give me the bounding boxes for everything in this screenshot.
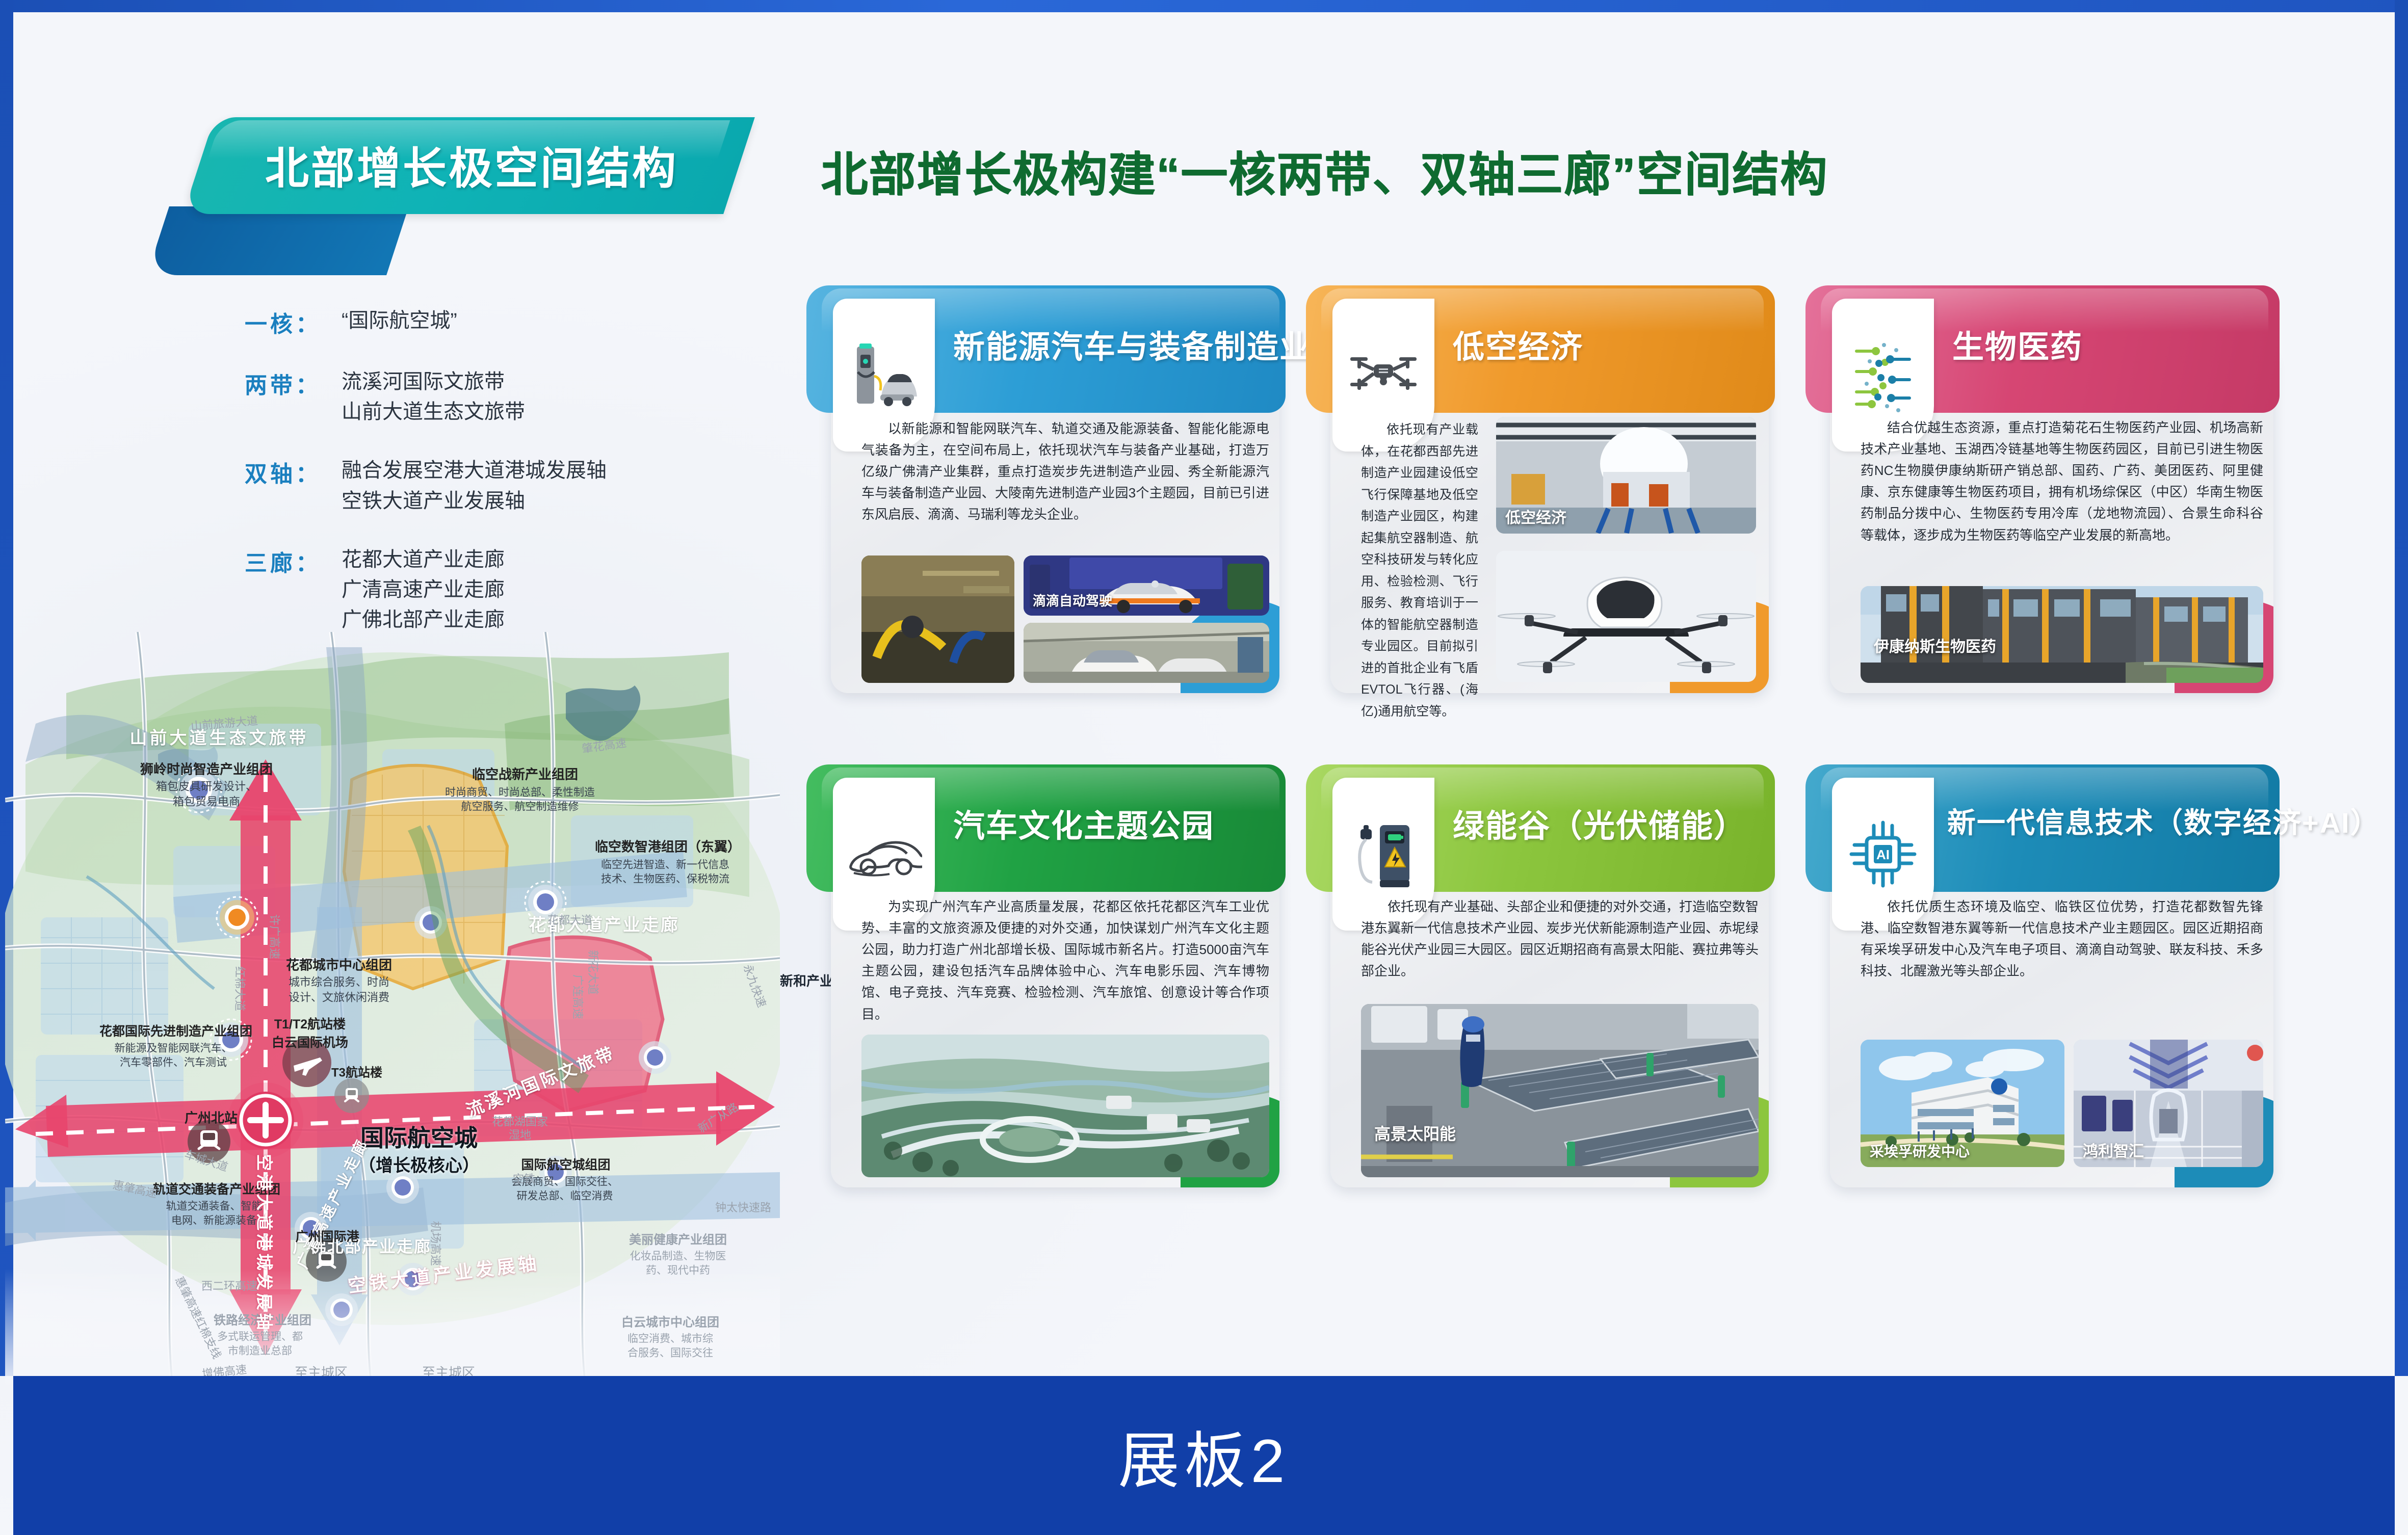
evtol-illustration: [1496, 551, 1756, 682]
structure-value: 广清高速产业走廊: [342, 575, 505, 605]
structure-value: 广佛北部产业走廊: [342, 605, 505, 635]
structure-values: “国际航空城”: [342, 306, 457, 338]
map-road-zhongtai: 钟太快速路: [715, 1199, 771, 1215]
card-next-gen-it[interactable]: AI 新一代信息技术（数字经济+AI） 依托优质生态环境及临空、临铁区位优势，打…: [1799, 764, 2289, 1187]
robot-factory-illustration: [861, 555, 1014, 683]
photo-caption: 低空经济: [1505, 505, 1566, 527]
card-title: 新能源汽车与装备制造业: [953, 321, 1312, 367]
structure-key: 一核：: [245, 306, 342, 338]
map-core-label: 国际航空城: [360, 1120, 478, 1153]
photo-theme-park-aerial[interactable]: [861, 1035, 1269, 1177]
photo-caption: 高景太阳能: [1374, 1121, 1456, 1145]
card-title: 绿能谷（光伏储能）: [1453, 800, 1746, 846]
ai-chip-icon: AI: [1847, 818, 1919, 890]
card-auto-culture-park[interactable]: 汽车文化主题公园 为实现广州汽车产业高质量发展，花都区依托花都区汽车工业优势、丰…: [800, 764, 1300, 1187]
map-road-huadu-ave: 花都大道: [547, 911, 592, 928]
map-cluster-title-huadu-mfg: 花都国际先进制造产业组团: [99, 1021, 252, 1040]
map-poi-baiyun-airport: 白云国际机场: [272, 1033, 348, 1051]
structure-value: “国际航空城”: [342, 306, 457, 336]
card-photo-gallery[interactable]: 低空经济: [1496, 417, 1761, 682]
solar-factory-illustration: [1361, 1004, 1759, 1177]
right-edge-bar: [2395, 0, 2408, 1376]
card-body-text: 依托现有产业载体，在花都西部先进制造产业园建设低空飞行保障基地及低空制造产业园区…: [1361, 419, 1478, 722]
card-title: 生物医药: [1952, 321, 2083, 367]
map-road-xierhuan: 西二环高速: [201, 1277, 257, 1293]
badge-underlay: [147, 206, 409, 275]
card-title: 新一代信息技术（数字经济+AI）: [1947, 800, 2380, 841]
map-poi-t1t2: T1/T2航站楼: [274, 1014, 346, 1033]
map-cluster-title-linkong-zhanxin: 临空战新产业组团: [472, 764, 578, 783]
structure-values: 流溪河国际文旅带 山前大道生态文旅带: [342, 367, 525, 427]
map-cluster-desc-huadu-mfg: 新能源及智能网联汽车、汽车零部件、汽车测试: [115, 1042, 232, 1071]
card-biopharma[interactable]: 生物医药 结合优越生态资源，重点打造菊花石生物医药产业园、机场高新技术产业基地、…: [1799, 285, 2289, 693]
structure-value: 山前大道生态文旅带: [342, 397, 525, 427]
structure-values: 花都大道产业走廊 广清高速产业走廊 广佛北部产业走廊: [342, 545, 505, 636]
map-cluster-desc-beauty-health: 化妆品制造、生物医药、现代中药: [630, 1250, 726, 1279]
map-cluster-title-huadu-center: 花都城市中心组团: [286, 955, 392, 974]
map-road-guanglian: 广连高速: [570, 974, 587, 1019]
map-cluster-desc-huadu-center: 城市综合服务、时尚设计、文旅休闲消费: [289, 974, 389, 1004]
structure-value: 空铁大道产业发展轴: [342, 486, 607, 516]
card-body-text: 以新能源和智能网联汽车、轨道交通及能源装备、智能化能源电气装备为主，在空间布局上…: [861, 418, 1269, 525]
map-cluster-title-baiyun-center: 白云城市中心组团: [621, 1312, 719, 1330]
card-photo-gallery[interactable]: 伊康纳斯生物医药: [1861, 586, 2263, 683]
card-low-altitude-economy[interactable]: 低空经济 依托现有产业载体，在花都西部先进制造产业园建设低空飞行保障基地及低空制…: [1300, 285, 1784, 693]
photo-biopharma-building[interactable]: 伊康纳斯生物医药: [1861, 586, 2263, 683]
page-title: 北部增长极构建“一核两带、双轴三廊”空间结构: [821, 137, 1828, 204]
photo-car-assembly-line[interactable]: [1024, 623, 1269, 683]
structure-row-core: 一核： “国际航空城”: [245, 306, 632, 338]
ev-charging-icon: [851, 339, 917, 411]
footer-banner: 展板2: [13, 1376, 2395, 1535]
card-green-energy-valley[interactable]: 绿能谷（光伏储能） 依托现有产业基础、头部企业和便捷的对外交通，打造临空数智港东…: [1300, 764, 1784, 1187]
svg-text:AI: AI: [1876, 847, 1890, 862]
structure-key: 两带：: [245, 367, 342, 427]
map-cluster-desc-rail-equip: 轨道交通装备、智能电网、新能源装备: [166, 1200, 263, 1229]
card-new-energy-vehicle[interactable]: 新能源汽车与装备制造业 以新能源和智能网联汽车、轨道交通及能源装备、智能化能源电…: [800, 285, 1300, 693]
planning-map[interactable]: 狮岭时尚智造产业组团 箱包皮具研发设计、箱包贸易电商 临空战新产业组团 时尚商贸…: [5, 632, 780, 1391]
drone-icon: [1345, 347, 1422, 403]
header-badge: 北部增长极空间结构: [153, 117, 754, 285]
card-photo-gallery[interactable]: 采埃孚研发中心: [1861, 1040, 2263, 1167]
structure-values: 融合发展空港大道港城发展轴 空铁大道产业发展轴: [342, 456, 607, 516]
poster-root: 北部增长极空间结构 北部增长极构建“一核两带、双轴三廊”空间结构 一核： “国际…: [0, 0, 2408, 1535]
top-edge-bar: [0, 0, 2408, 12]
map-place-huadu-lake: 花都湖国家湿地: [492, 1116, 548, 1143]
map-core-sublabel: （增长极核心）: [358, 1152, 480, 1177]
photo-flight-simulator[interactable]: 低空经济: [1496, 417, 1756, 534]
photo-robot-factory[interactable]: [861, 555, 1014, 683]
structure-row-axes: 双轴： 融合发展空港大道港城发展轴 空铁大道产业发展轴: [245, 456, 632, 516]
car-assembly-illustration: [1024, 623, 1269, 683]
footer-label: 展板2: [1118, 1411, 1290, 1500]
structure-key: 三廊：: [245, 545, 342, 636]
map-poi-north-station: 广州北站: [185, 1108, 238, 1127]
photo-caption: 滴滴自动驾驶: [1033, 591, 1112, 610]
map-cluster-title-shiling: 狮岭时尚智造产业组团: [140, 759, 273, 778]
map-poi-intl-port: 广州国际港: [295, 1227, 359, 1245]
dna-molecule-icon: [1847, 337, 1919, 413]
badge-label: 北部增长极空间结构: [229, 134, 714, 195]
theme-park-illustration: [861, 1035, 1269, 1177]
structure-value: 花都大道产业走廊: [342, 545, 505, 575]
card-title: 低空经济: [1453, 321, 1583, 367]
photo-solar-panel-factory[interactable]: 高景太阳能: [1361, 1004, 1759, 1177]
photo-caption: 采埃孚研发中心: [1870, 1141, 1970, 1161]
photo-caption: 鸿利智汇: [2083, 1139, 2144, 1161]
map-poi-t3: T3航站楼: [331, 1063, 382, 1080]
structure-list: 一核： “国际航空城” 两带： 流溪河国际文旅带 山前大道生态文旅带 双轴： 融…: [245, 306, 632, 664]
card-body-text: 依托现有产业基础、头部企业和便捷的对外交通，打造临空数智港东翼新一代信息技术产业…: [1361, 896, 1759, 982]
map-cluster-desc-shuzhigang: 临空先进智造、新一代信息技术、生物医药、保税物流: [601, 858, 729, 887]
card-body-text: 依托优质生态环境及临空、临铁区位优势，打造花都数智先锋港、临空数智港东翼等新一代…: [1861, 896, 2263, 982]
card-photo-gallery[interactable]: 高景太阳能: [1361, 1004, 1759, 1177]
photo-zf-rnd-center[interactable]: 采埃孚研发中心: [1861, 1040, 2064, 1167]
map-axis-konggang: 空港大道港城发展轴: [253, 1154, 278, 1333]
structure-value: 融合发展空港大道港城发展轴: [342, 456, 607, 486]
card-body-text: 为实现广州汽车产业高质量发展，花都区依托花都区汽车工业优势、丰富的文旅资源及便捷…: [861, 896, 1269, 1025]
card-photo-gallery[interactable]: 滴滴自动驾驶: [861, 555, 1269, 683]
structure-row-belts: 两带： 流溪河国际文旅带 山前大道生态文旅带: [245, 367, 632, 427]
structure-value: 流溪河国际文旅带: [342, 367, 525, 397]
card-photo-gallery[interactable]: [861, 1035, 1269, 1177]
map-cluster-title-shuzhigang: 临空数智港组团（东翼）: [595, 837, 741, 856]
map-cluster-title-beauty-health: 美丽健康产业组团: [629, 1230, 727, 1248]
map-road-xinhua: 新花大道: [586, 950, 602, 995]
structure-key: 双轴：: [245, 456, 342, 516]
map-road-kongtie: 空铁: [513, 1170, 535, 1186]
card-title: 汽车文化主题公园: [953, 800, 1214, 846]
card-body-text: 结合优越生态资源，重点打造菊花石生物医药产业园、机场高新技术产业基地、玉湖西冷链…: [1861, 417, 2263, 546]
sportscar-icon: [846, 826, 922, 882]
map-cluster-desc-baiyun-center: 临空消费、城市综合服务、国际交往: [627, 1332, 713, 1361]
charging-pile-icon: [1350, 816, 1417, 892]
photo-honglitronic-showroom[interactable]: 鸿利智汇: [2074, 1040, 2263, 1167]
map-road-xuguang: 许广高速: [267, 914, 283, 959]
map-cluster-desc-rail-economy: 多式联运管理、都市制造业总部: [217, 1330, 303, 1359]
map-road-hongmian: 红棉大道: [232, 966, 249, 1011]
map-cluster-desc-shiling: 箱包皮具研发设计、箱包贸易电商: [156, 779, 257, 809]
map-road-airport-expwy: 机场高速: [428, 1221, 444, 1266]
photo-didi-autonomous-car[interactable]: 滴滴自动驾驶: [1024, 555, 1269, 616]
photo-caption: 伊康纳斯生物医药: [1874, 634, 1996, 656]
photo-evtol-aircraft[interactable]: [1496, 551, 1756, 682]
structure-row-corridors: 三廊： 花都大道产业走廊 广清高速产业走廊 广佛北部产业走廊: [245, 545, 632, 636]
map-cluster-desc-linkong-zhanxin: 时尚商贸、时尚总部、柔性制造航空服务、航空制造维修: [445, 786, 595, 815]
